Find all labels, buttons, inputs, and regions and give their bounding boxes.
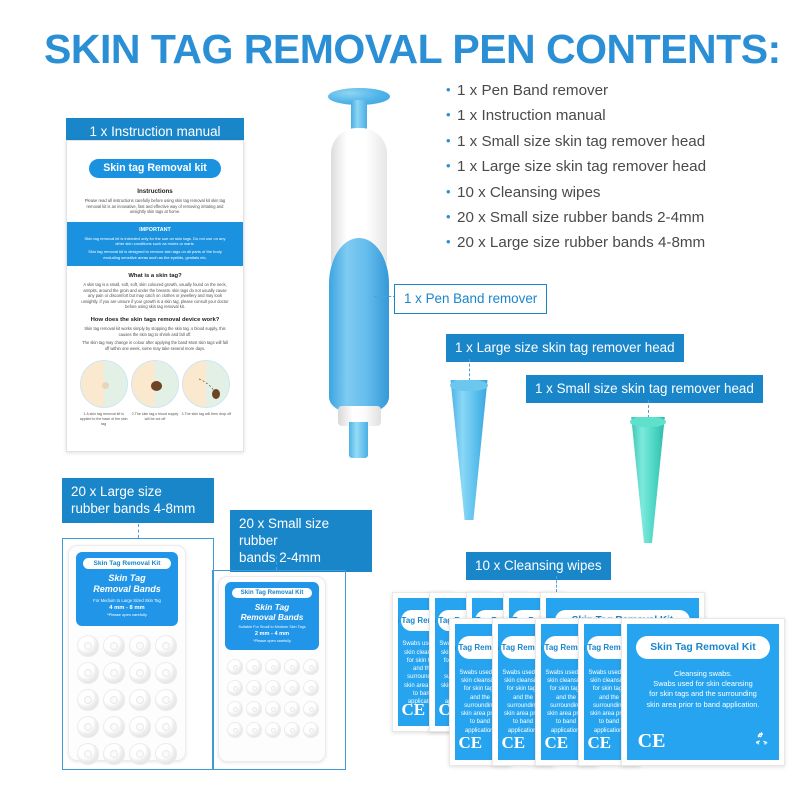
large-bands-line2: Removal Bands	[76, 584, 178, 595]
wipe-face: Skin Tag Removal Kit Cleansing swabs. Sw…	[627, 624, 779, 760]
leader-line-small-bands	[276, 556, 277, 570]
content-item: 1 x Pen Band remover	[446, 78, 796, 103]
pen-band-remover-illustration	[318, 88, 402, 458]
small-bands-line1: Skin Tag	[225, 602, 319, 612]
manual-step: 1.A skin tag removal kit is applied to t…	[78, 360, 129, 426]
manual-what-section: What is a skin tag? A skin tag is a smal…	[76, 273, 234, 310]
wipe-body-line: for skin tags and the surrounding	[636, 689, 770, 699]
manual-step-caption: 2.The skin tag,s blood supply will be cu…	[129, 412, 180, 422]
leader-line-small-head	[648, 400, 649, 418]
manual-step: 2.The skin tag,s blood supply will be cu…	[129, 360, 180, 426]
manual-how-section: How does the skin tags removal device wo…	[76, 317, 234, 351]
leader-line-wipes	[556, 576, 557, 592]
callout-large-rubber-bands: 20 x Large size rubber bands 4-8mm	[62, 478, 214, 523]
small-bands-note: *Please open carefully	[225, 638, 319, 644]
callout-small-bands-line2: bands 2-4mm	[239, 550, 321, 565]
content-item: 20 x Large size rubber bands 4-8mm	[446, 230, 796, 255]
manual-steps: 1.A skin tag removal kit is applied to t…	[76, 360, 234, 426]
callout-small-remover-head: 1 x Small size skin tag remover head	[526, 375, 763, 403]
ce-mark-icon: CE	[638, 730, 666, 753]
small-bands-size: 2 mm - 4 mm	[225, 630, 319, 638]
wipe-packet-front: Skin Tag Removal Kit Cleansing swabs. Sw…	[621, 618, 785, 766]
manual-important-heading: IMPORTANT	[77, 227, 233, 233]
large-head-cone	[447, 380, 491, 520]
ce-mark-icon: CE	[502, 733, 526, 753]
callout-pen-band-remover: 1 x Pen Band remover	[394, 284, 547, 314]
skin-tag-dropoff-icon	[182, 360, 230, 408]
ce-mark-icon: CE	[588, 733, 612, 753]
small-bands-sub: Suitable For Small to Medium Skin Tags	[225, 624, 319, 630]
small-bands-label: Skin Tag Removal Kit Skin Tag Removal Ba…	[225, 582, 319, 650]
ce-mark-icon: CE	[459, 733, 483, 753]
manual-what-heading: What is a skin tag?	[76, 273, 234, 279]
manual-what-body: A skin tag is a small, soft, soft, skin …	[76, 282, 234, 310]
skin-tag-cutoff-icon	[131, 360, 179, 408]
small-remover-head	[628, 417, 668, 543]
manual-instructions-body: Please read all instructions carefully b…	[76, 198, 234, 215]
large-bands-line1: Skin Tag	[76, 573, 178, 584]
leader-line-pen	[374, 296, 396, 297]
content-item: 10 x Cleansing wipes	[446, 180, 796, 205]
skin-tag-illustration-icon	[80, 360, 128, 408]
leader-line-large-bands	[138, 524, 139, 538]
callout-cleansing-wipes: 10 x Cleansing wipes	[466, 552, 611, 580]
manual-step: 3.The skin tag will then drop off	[181, 360, 232, 426]
manual-how-heading: How does the skin tags removal device wo…	[76, 317, 234, 323]
small-bands-pill: Skin Tag Removal Kit	[232, 588, 313, 598]
wipe-body-line: Swabs used for skin cleansing	[636, 679, 770, 689]
manual-step-caption: 3.The skin tag will then drop off	[181, 412, 232, 417]
manual-important-body-1: Skin tag removal kit is intended only fo…	[77, 236, 233, 247]
large-head-cap	[450, 380, 489, 391]
content-item: 1 x Instruction manual	[446, 103, 796, 128]
manual-instructions-heading: Instructions	[76, 188, 234, 195]
callout-small-bands-line1: 20 x Small size rubber	[239, 516, 329, 548]
large-bands-sub: For Medium to Large Sized Skin Tag	[76, 597, 178, 604]
small-rubber-bands-package: Skin Tag Removal Kit Skin Tag Removal Ba…	[218, 576, 326, 762]
manual-how-body-2: The skin tag may change in colour after …	[76, 340, 234, 351]
large-bands-size: 4 mm - 8 mm	[76, 604, 178, 612]
pen-tip	[349, 422, 368, 458]
pen-grip	[329, 238, 389, 413]
callout-large-remover-head: 1 x Large size skin tag remover head	[446, 334, 684, 362]
small-head-cap	[630, 417, 665, 427]
manual-title-pill: Skin tag Removal kit	[89, 159, 221, 178]
large-bands-label: Skin Tag Removal Kit Skin Tag Removal Ba…	[76, 552, 178, 626]
content-item: 1 x Small size skin tag remover head	[446, 129, 796, 154]
page-title: SKIN TAG REMOVAL PEN CONTENTS:	[44, 26, 781, 73]
leader-line-large-head	[469, 359, 470, 381]
small-bands-line2: Removal Bands	[225, 612, 319, 622]
manual-important-body-2: Skin tag removal kit is designed to remo…	[77, 249, 233, 260]
large-bands-grid	[77, 635, 177, 765]
content-item: 1 x Large size skin tag remover head	[446, 154, 796, 179]
wipe-pill: Skin Tag Removal Kit	[636, 636, 770, 659]
large-bands-pill: Skin Tag Removal Kit	[83, 558, 171, 569]
ce-mark-icon: CE	[402, 700, 426, 720]
callout-large-bands-line1: 20 x Large size	[71, 484, 162, 499]
callout-large-bands-line2: rubber bands 4-8mm	[71, 501, 195, 516]
large-rubber-bands-package: Skin Tag Removal Kit Skin Tag Removal Ba…	[68, 545, 186, 761]
small-head-cone	[628, 417, 668, 543]
content-item: 20 x Small size rubber bands 2-4mm	[446, 205, 796, 230]
large-remover-head	[447, 380, 491, 520]
infographic-canvas: SKIN TAG REMOVAL PEN CONTENTS: 1 x Pen B…	[0, 0, 800, 800]
recycle-icon	[753, 730, 770, 752]
wipe-body: Cleansing swabs. Swabs used for skin cle…	[636, 669, 770, 710]
manual-step-caption: 1.A skin tag removal kit is applied to t…	[78, 412, 129, 426]
small-bands-grid	[227, 659, 319, 738]
instruction-manual-sheet: Skin tag Removal kit Instructions Please…	[66, 140, 244, 452]
ce-mark-icon: CE	[545, 733, 569, 753]
wipe-body-line: skin area prior to band application.	[636, 700, 770, 710]
contents-list: 1 x Pen Band remover 1 x Instruction man…	[446, 78, 796, 256]
wipe-body-line: Cleansing swabs.	[636, 669, 770, 679]
manual-important-block: IMPORTANT Skin tag removal kit is intend…	[67, 222, 243, 266]
manual-how-body-1: Skin tag removal kit works simply by sto…	[76, 326, 234, 337]
callout-small-rubber-bands: 20 x Small size rubber bands 2-4mm	[230, 510, 372, 572]
large-bands-note: *Please open carefully	[76, 612, 178, 618]
